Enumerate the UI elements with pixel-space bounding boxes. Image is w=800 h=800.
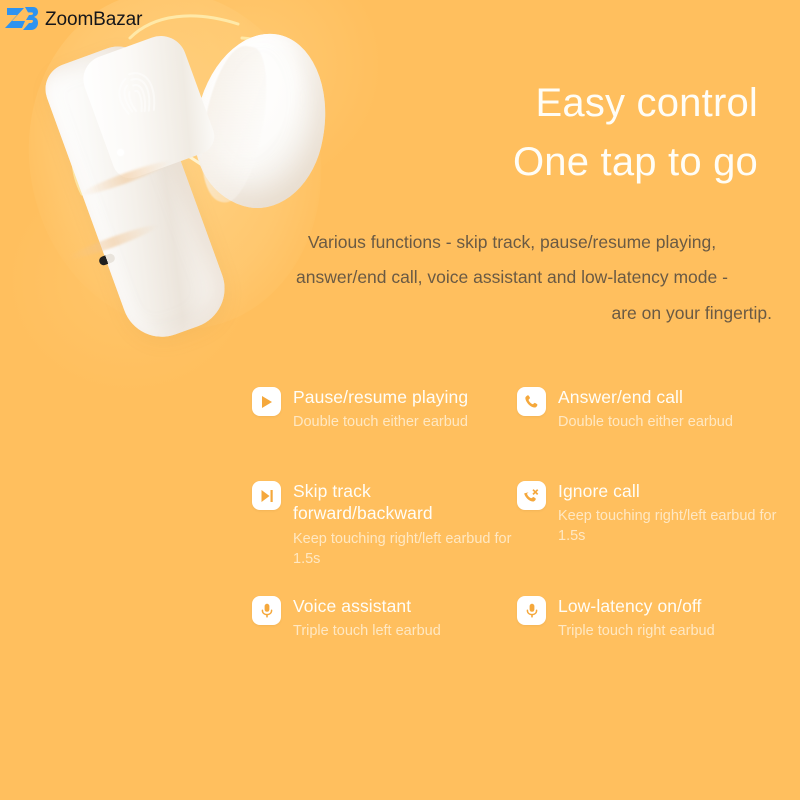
zb-monogram-icon [4, 4, 38, 35]
skip-next-icon [252, 481, 281, 510]
feature-item-answer-end-call: Answer/end call Double touch either earb… [517, 386, 787, 433]
feature-title: Ignore call [558, 480, 787, 502]
phone-decline-icon [517, 481, 546, 510]
feature-caption: Double touch either earbud [293, 413, 468, 433]
feature-item-skip-track: Skip track forward/backward Keep touchin… [252, 480, 514, 569]
feature-caption: Triple touch right earbud [558, 622, 715, 642]
microphone-icon [517, 596, 546, 625]
feature-caption: Keep touching right/left earbud for 1.5s [558, 507, 787, 546]
headline-line-1: Easy control [328, 74, 758, 133]
description-line-3: are on your fingertip. [252, 296, 772, 331]
feature-title: Answer/end call [558, 386, 733, 408]
phone-icon [517, 387, 546, 416]
feature-caption: Triple touch left earbud [293, 622, 441, 642]
promo-banner: ZoomBazar Easy control One tap to go [0, 0, 800, 800]
feature-title: Voice assistant [293, 595, 441, 617]
microphone-icon [252, 596, 281, 625]
description-line-2: answer/end call, voice assistant and low… [252, 260, 772, 295]
feature-title: Low-latency on/off [558, 595, 715, 617]
feature-caption: Double touch either earbud [558, 413, 733, 433]
page-title: Easy control One tap to go [328, 74, 758, 192]
brand-name: ZoomBazar [45, 9, 142, 31]
description-line-1: Various functions - skip track, pause/re… [252, 225, 772, 260]
feature-title: Skip track forward/backward [293, 480, 514, 525]
play-icon [252, 387, 281, 416]
feature-item-low-latency: Low-latency on/off Triple touch right ea… [517, 595, 787, 642]
feature-title: Pause/resume playing [293, 386, 468, 408]
brand-logo[interactable]: ZoomBazar [4, 4, 142, 35]
description-paragraph: Various functions - skip track, pause/re… [252, 225, 772, 331]
feature-item-pause-resume: Pause/resume playing Double touch either… [252, 386, 514, 433]
headline-line-2: One tap to go [328, 133, 758, 192]
feature-caption: Keep touching right/left earbud for 1.5s [293, 530, 514, 569]
feature-item-voice-assistant: Voice assistant Triple touch left earbud [252, 595, 514, 642]
feature-item-ignore-call: Ignore call Keep touching right/left ear… [517, 480, 787, 547]
